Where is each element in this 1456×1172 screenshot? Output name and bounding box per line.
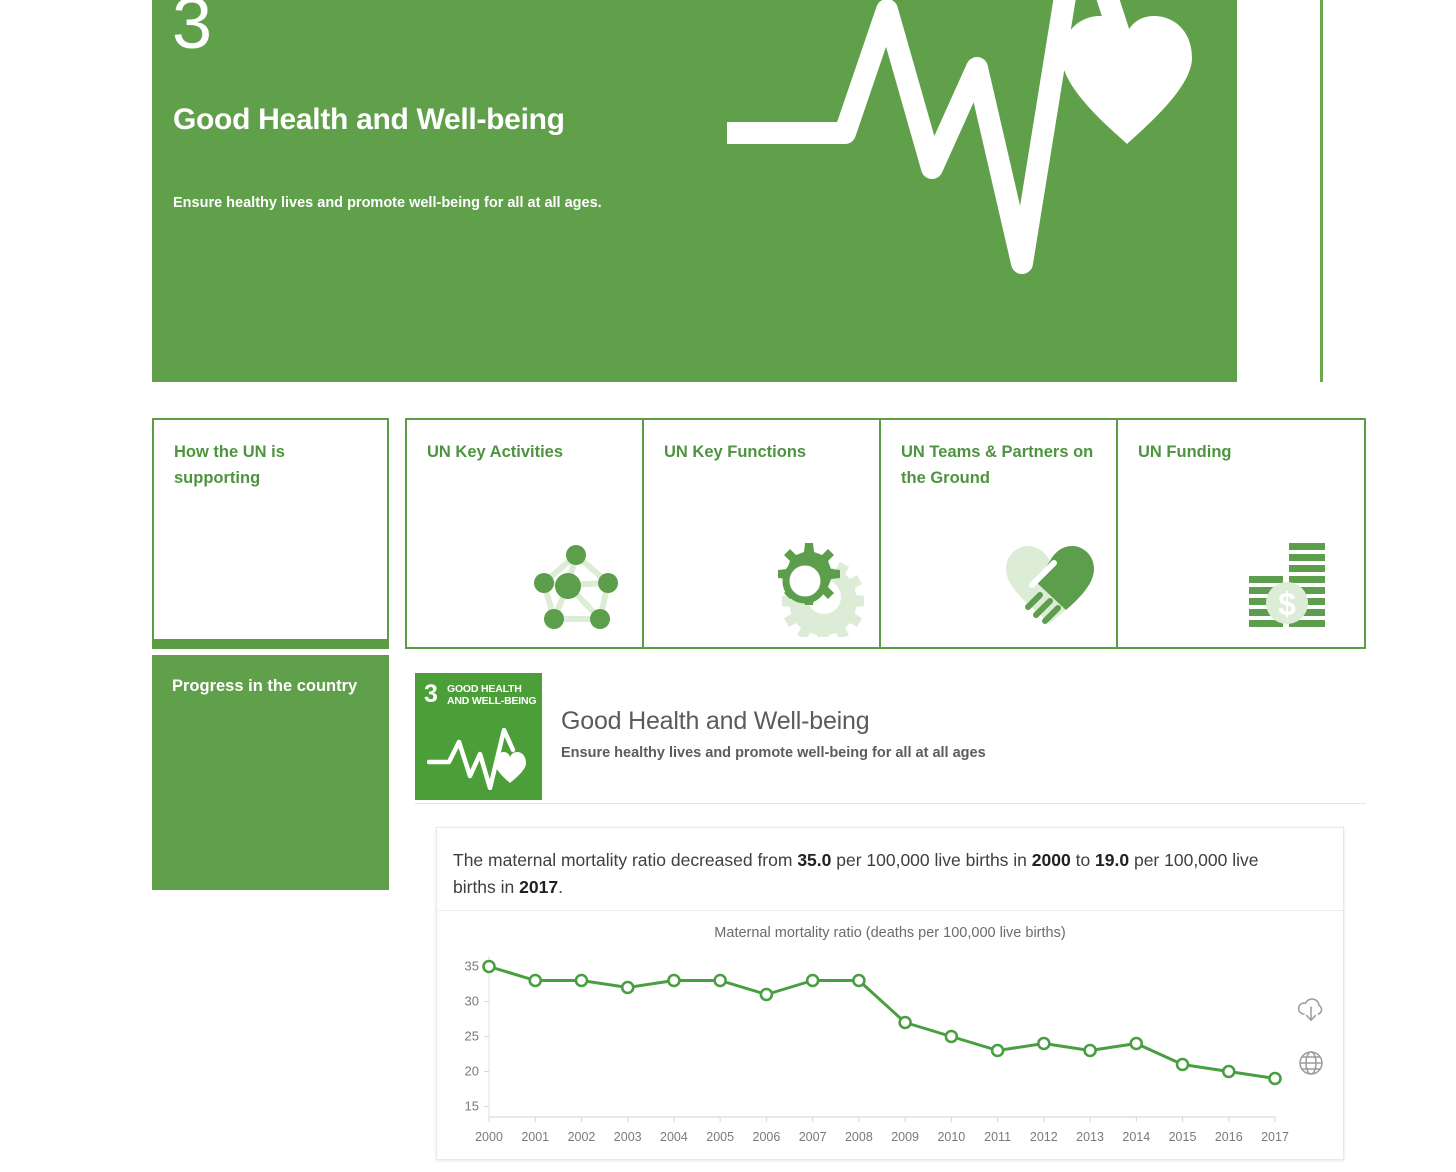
svg-text:2002: 2002 xyxy=(568,1130,596,1144)
sdg-badge-text: GOOD HEALTH AND WELL-BEING xyxy=(447,684,537,708)
svg-text:2006: 2006 xyxy=(753,1130,781,1144)
hero-vertical-rule xyxy=(1320,0,1323,382)
svg-text:2014: 2014 xyxy=(1122,1130,1150,1144)
note-year-end: 2017 xyxy=(519,877,558,897)
sdg-badge-line2: AND WELL-BEING xyxy=(447,695,536,707)
svg-text:2008: 2008 xyxy=(845,1130,873,1144)
note-prefix: The maternal mortality ratio decreased f… xyxy=(453,850,797,870)
heartbeat-heart-icon xyxy=(727,0,1197,298)
goal-divider xyxy=(415,803,1366,804)
svg-text:2007: 2007 xyxy=(799,1130,827,1144)
hero-goal-number: 3 xyxy=(172,0,211,60)
cloud-download-icon[interactable] xyxy=(1295,996,1327,1028)
money-stacks-dollar-icon: $ xyxy=(1243,533,1347,637)
svg-text:30: 30 xyxy=(465,994,479,1009)
svg-text:2009: 2009 xyxy=(891,1130,919,1144)
card-un-key-functions-label: UN Key Functions xyxy=(664,440,863,466)
note-year-start: 2000 xyxy=(1032,850,1071,870)
sdg-badge-line1: GOOD HEALTH xyxy=(447,683,522,695)
svg-text:2010: 2010 xyxy=(937,1130,965,1144)
chart-title: Maternal mortality ratio (deaths per 100… xyxy=(437,925,1343,941)
handshake-heart-icon xyxy=(998,533,1102,637)
indicator-panel: The maternal mortality ratio decreased f… xyxy=(436,827,1344,1160)
globe-icon[interactable] xyxy=(1295,1047,1327,1079)
note-value-start: 35.0 xyxy=(797,850,831,870)
panel-separator xyxy=(437,910,1343,911)
card-un-key-functions[interactable]: UN Key Functions xyxy=(644,420,881,647)
tab-progress-label: Progress in the country xyxy=(172,674,373,700)
hero-goal-title: Good Health and Well-being xyxy=(173,98,593,142)
svg-text:2016: 2016 xyxy=(1215,1130,1243,1144)
svg-text:2000: 2000 xyxy=(475,1130,503,1144)
svg-text:2005: 2005 xyxy=(706,1130,734,1144)
goal-title: Good Health and Well-being xyxy=(561,707,869,736)
note-value-end: 19.0 xyxy=(1095,850,1129,870)
svg-text:35: 35 xyxy=(465,959,479,974)
indicator-summary-text: The maternal mortality ratio decreased f… xyxy=(453,847,1293,901)
svg-text:2003: 2003 xyxy=(614,1130,642,1144)
goal-subtitle: Ensure healthy lives and promote well-be… xyxy=(561,745,986,761)
card-un-funding[interactable]: UN Funding xyxy=(1118,420,1361,647)
card-un-key-activities[interactable]: UN Key Activities xyxy=(407,420,644,647)
svg-text:2004: 2004 xyxy=(660,1130,688,1144)
svg-text:2001: 2001 xyxy=(521,1130,549,1144)
svg-text:2015: 2015 xyxy=(1169,1130,1197,1144)
card-un-key-activities-label: UN Key Activities xyxy=(427,440,626,466)
svg-text:2013: 2013 xyxy=(1076,1130,1104,1144)
goal-header: 3 GOOD HEALTH AND WELL-BEING Good Health… xyxy=(415,673,1366,803)
card-un-funding-label: UN Funding xyxy=(1138,440,1345,466)
card-un-teams-partners[interactable]: UN Teams & Partners on the Ground xyxy=(881,420,1118,647)
nav-card-strip: How the UN is supporting UN Key Activiti… xyxy=(152,418,1366,649)
hero-banner: 3 Good Health and Well-being Ensure heal… xyxy=(152,0,1237,382)
svg-text:2012: 2012 xyxy=(1030,1130,1058,1144)
sdg-goal-3-badge: 3 GOOD HEALTH AND WELL-BEING xyxy=(415,673,542,800)
chart-tools xyxy=(1295,996,1335,1098)
gears-icon xyxy=(761,533,865,637)
svg-text:25: 25 xyxy=(465,1029,479,1044)
tab-progress-in-the-country[interactable]: Progress in the country xyxy=(152,655,389,890)
badge-heartbeat-icon xyxy=(427,728,530,790)
tab-how-the-un-is-supporting[interactable]: How the UN is supporting xyxy=(152,418,389,649)
note-mid2: to xyxy=(1071,850,1095,870)
svg-text:2017: 2017 xyxy=(1261,1130,1289,1144)
network-nodes-icon xyxy=(524,533,628,637)
nav-card-group: UN Key Activities UN Key xyxy=(405,418,1366,649)
note-mid1: per 100,000 live births in xyxy=(831,850,1031,870)
tab-how-un-label: How the UN is supporting xyxy=(174,440,371,491)
hero-goal-subtitle: Ensure healthy lives and promote well-be… xyxy=(173,192,613,215)
svg-text:2011: 2011 xyxy=(984,1130,1011,1144)
note-suffix: . xyxy=(558,877,563,897)
maternal-mortality-line-chart[interactable]: 1520253035200020012002200320042005200620… xyxy=(437,948,1345,1161)
page-root: 3 Good Health and Well-being Ensure heal… xyxy=(0,0,1456,1172)
card-un-teams-partners-label: UN Teams & Partners on the Ground xyxy=(901,440,1100,491)
svg-text:20: 20 xyxy=(465,1064,479,1079)
sdg-badge-number: 3 xyxy=(424,682,438,707)
svg-text:15: 15 xyxy=(465,1099,479,1114)
svg-text:$: $ xyxy=(1278,586,1296,622)
